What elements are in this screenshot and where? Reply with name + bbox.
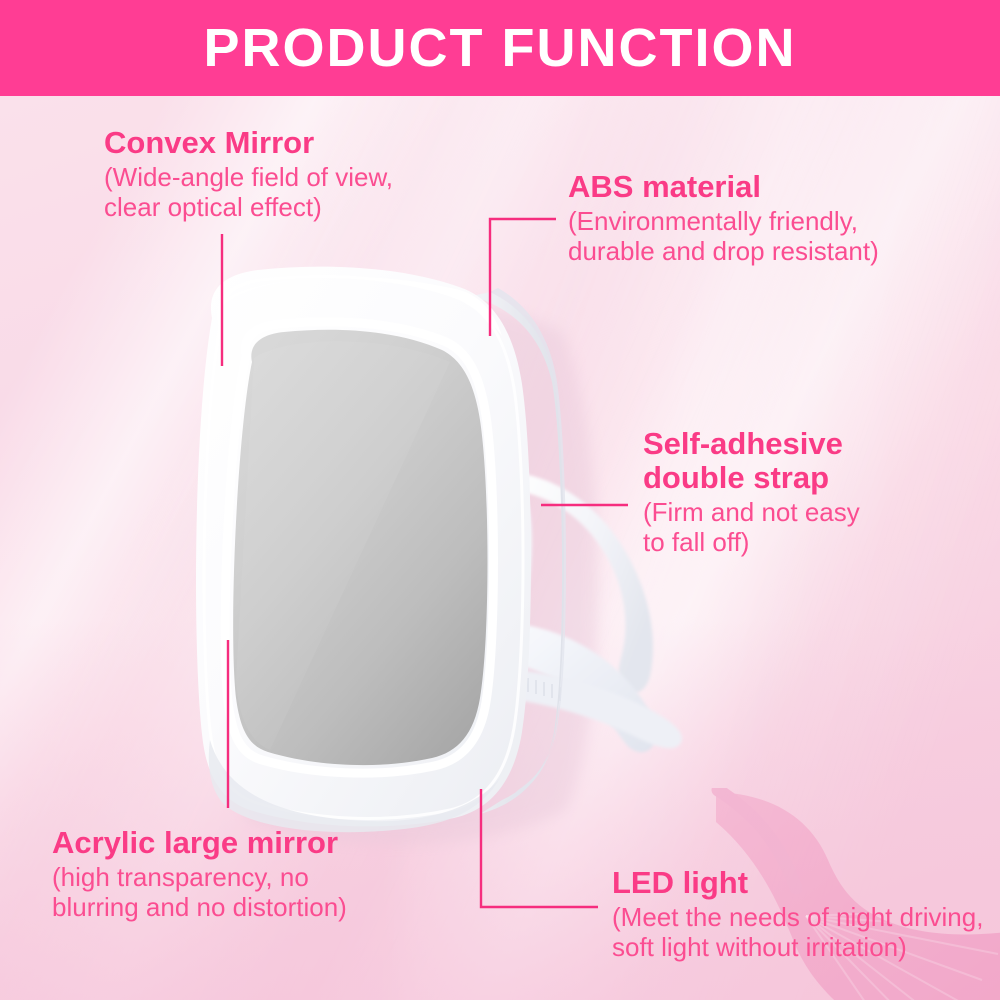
page-title: PRODUCT FUNCTION xyxy=(204,21,797,75)
callout-led-light: LED light (Meet the needs of night drivi… xyxy=(612,866,1000,963)
product-function-infographic: PRODUCT FUNCTION Convex Mirror (Wide-ang… xyxy=(0,0,1000,1000)
callout-led-light-description: (Meet the needs of night driving, soft l… xyxy=(612,903,1000,963)
callout-acrylic-title: Acrylic large mirror xyxy=(52,826,452,860)
callout-acrylic-description: (high transparency, no blurring and no d… xyxy=(52,863,452,923)
callout-led-light-title: LED light xyxy=(612,866,1000,900)
callout-abs-material: ABS material (Environmentally friendly, … xyxy=(568,170,968,267)
callout-abs-material-description: (Environmentally friendly, durable and d… xyxy=(568,207,968,267)
callout-self-adhesive-double-strap: Self-adhesive double strap (Firm and not… xyxy=(643,427,983,558)
callout-strap-description: (Firm and not easy to fall off) xyxy=(643,498,983,558)
header-bar: PRODUCT FUNCTION xyxy=(0,0,1000,96)
callout-abs-material-title: ABS material xyxy=(568,170,968,204)
callout-convex-mirror: Convex Mirror (Wide-angle field of view,… xyxy=(104,126,464,223)
callout-acrylic-large-mirror: Acrylic large mirror (high transparency,… xyxy=(52,826,452,923)
callout-strap-title: Self-adhesive double strap xyxy=(643,427,983,495)
callout-convex-mirror-description: (Wide-angle field of view, clear optical… xyxy=(104,163,464,223)
callout-convex-mirror-title: Convex Mirror xyxy=(104,126,464,160)
